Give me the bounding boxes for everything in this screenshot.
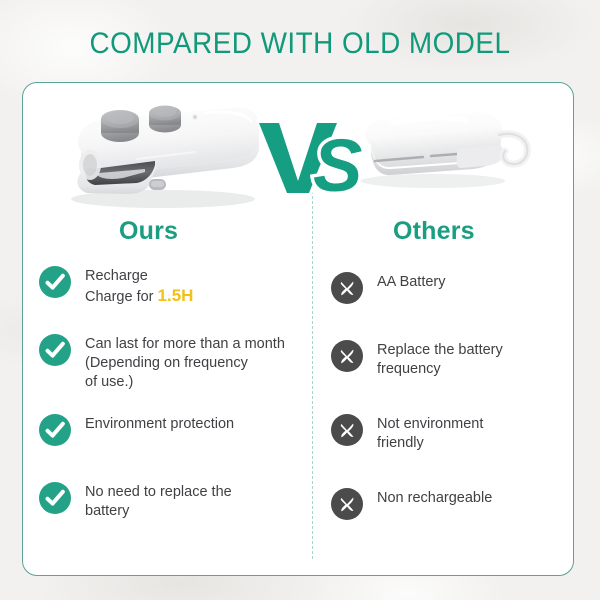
feature-line: of use.) [85,374,133,390]
column-heading-others: Others [393,217,475,246]
feature-line: Not environment [377,416,483,432]
comparison-card: S S [22,82,574,576]
list-item: Not environment friendly [331,413,483,453]
column-divider [312,141,313,559]
feature-line: No need to replace the [85,484,232,500]
feature-line: AA Battery [377,274,446,290]
list-item-text: Recharge Charge for 1.5H [85,265,193,307]
feature-line-prefix: Charge for [85,289,158,305]
feature-highlight: 1.5H [158,286,194,305]
list-item: Recharge Charge for 1.5H [39,265,193,307]
cross-circle-icon [331,272,363,304]
check-circle-icon [39,334,71,366]
check-circle-icon [39,482,71,514]
list-item-text: Environment protection [85,413,234,434]
feature-line: Non rechargeable [377,490,492,506]
list-item: Can last for more than a month (Dependin… [39,333,285,392]
column-heading-ours: Ours [119,217,178,246]
page-title: COMPARED WITH OLD MODEL [21,26,579,62]
feature-line: friendly [377,435,424,451]
check-circle-icon [39,266,71,298]
list-item-text: Replace the battery frequency [377,339,503,379]
ours-product-image [45,95,285,215]
feature-line: (Depending on frequency [85,355,248,371]
list-item-text: Not environment friendly [377,413,483,453]
feature-line: Replace the battery [377,342,503,358]
list-item-text: Non rechargeable [377,487,492,508]
feature-line: battery [85,503,129,519]
list-item: Non rechargeable [331,487,492,520]
feature-line: Environment protection [85,416,234,432]
cross-circle-icon [331,414,363,446]
cross-circle-icon [331,340,363,372]
list-item: Replace the battery frequency [331,339,503,379]
feature-line: Can last for more than a month [85,336,285,352]
list-item: AA Battery [331,271,446,304]
list-item: No need to replace the battery [39,481,232,521]
feature-line: frequency [377,361,441,377]
check-circle-icon [39,414,71,446]
others-product-image [353,105,553,205]
list-item-text: No need to replace the battery [85,481,232,521]
list-item-text: Can last for more than a month (Dependin… [85,333,285,392]
feature-line: Recharge [85,268,148,284]
list-item: Environment protection [39,413,234,446]
list-item-text: AA Battery [377,271,446,292]
cross-circle-icon [331,488,363,520]
